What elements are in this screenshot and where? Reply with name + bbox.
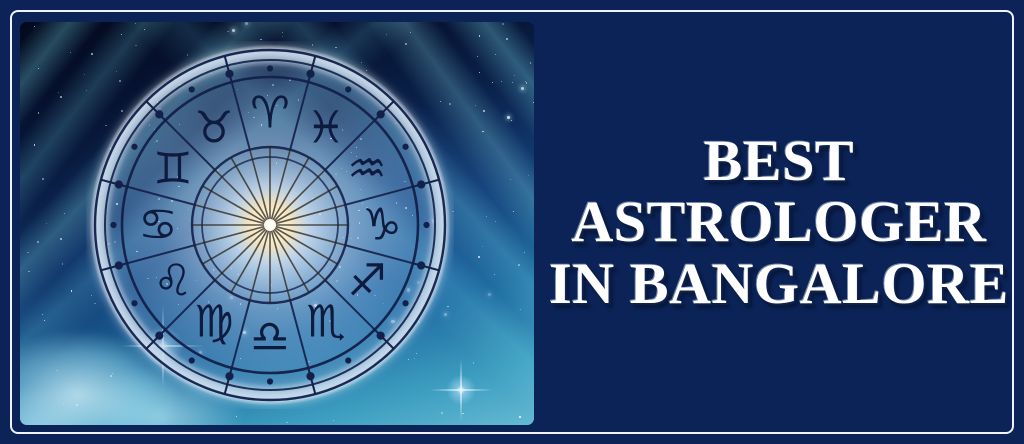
star [511,120,512,121]
headline-block: BEST ASTROLOGER IN BANGALORE [534,0,1024,444]
star [519,416,520,417]
star [46,223,47,224]
zodiac-glyph-scorpio: ♏ [306,296,345,347]
star [479,35,480,36]
star [475,105,476,106]
zodiac-glyph-sagittarius: ♐ [347,256,386,307]
zodiac-glyph-gemini: ♊ [153,144,192,195]
star [286,422,287,423]
wheel-ring-dot [267,378,273,384]
headline-line-2: ASTROLOGER [571,192,986,251]
star [530,62,531,63]
star [524,252,525,253]
zodiac-artwork-panel: ♈♓♒♑♐♏♎♍♌♋♊♉ [20,22,534,425]
wheel-ring-dot [402,300,408,306]
zodiac-glyph-capricorn: ♑ [362,200,401,251]
zodiac-glyph-libra: ♎ [250,312,289,363]
zodiac-wheel: ♈♓♒♑♐♏♎♍♌♋♊♉ [86,41,454,409]
zodiac-glyph-virgo: ♍ [194,296,233,347]
headline-line-1: BEST [704,131,855,190]
star [495,221,496,222]
wheel-ring-dot [423,222,429,228]
headline-line-3: IN BANGALORE [549,254,1009,313]
star [479,72,480,73]
wheel-ring-dot [131,300,137,306]
wheel-ring-dot [110,222,116,228]
wheel-ring-dot [189,86,195,92]
zodiac-glyph-aries: ♈ [250,88,289,139]
astrology-banner: ♈♓♒♑♐♏♎♍♌♋♊♉ BEST ASTROLOGER IN BANGALOR… [0,0,1024,444]
wheel-ring-dot [345,86,351,92]
star [521,87,524,90]
wheel-ring-dot [267,65,273,71]
zodiac-glyph-aquarius: ♒ [347,144,386,195]
wheel-ring-dot [189,357,195,363]
star [482,131,483,132]
wheel-ring-dot [131,144,137,150]
star [37,241,38,242]
star [260,39,261,40]
wheel-ring-dot [345,357,351,363]
star [121,34,122,35]
star [64,213,65,214]
star [462,413,463,414]
star [526,82,527,83]
star [333,420,334,421]
zodiac-glyph-leo: ♌ [153,256,192,307]
star [144,29,145,30]
wheel-ring-dot [402,144,408,150]
zodiac-glyph-taurus: ♉ [194,103,233,154]
zodiac-glyph-pisces: ♓ [306,103,345,154]
zodiac-glyph-cancer: ♋ [138,200,177,251]
star [27,252,28,253]
star [482,246,483,247]
star [62,263,63,264]
